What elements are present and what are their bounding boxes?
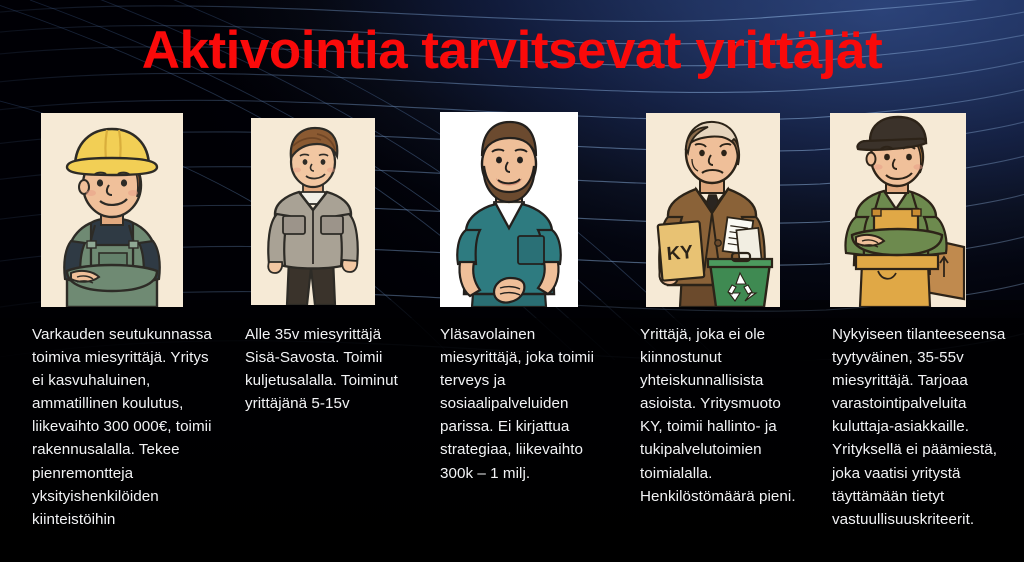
- persona-caption-1: Varkauden seutukunnassa toimiva miesyrit…: [32, 323, 212, 531]
- persona-caption-3: Yläsavolainen miesyrittäjä, joka toimii …: [440, 323, 610, 485]
- persona-image-5: [830, 113, 966, 307]
- persona-caption-4: Yrittäjä, joka ei ole kiinnostunut yhtei…: [640, 323, 804, 508]
- page-title: Aktivointia tarvitsevat yrittäjät: [0, 24, 1024, 78]
- persona-caption-5: Nykyiseen tilanteeseensa tyytyväinen, 35…: [832, 323, 1006, 531]
- persona-image-1: [41, 113, 183, 307]
- persona-caption-2: Alle 35v miesyrittäjä Sisä-Savosta. Toim…: [245, 323, 413, 415]
- persona-image-3: [440, 112, 578, 307]
- svg-text:KY: KY: [666, 242, 694, 265]
- persona-image-2: [251, 118, 375, 305]
- persona-image-4: KY: [646, 113, 780, 307]
